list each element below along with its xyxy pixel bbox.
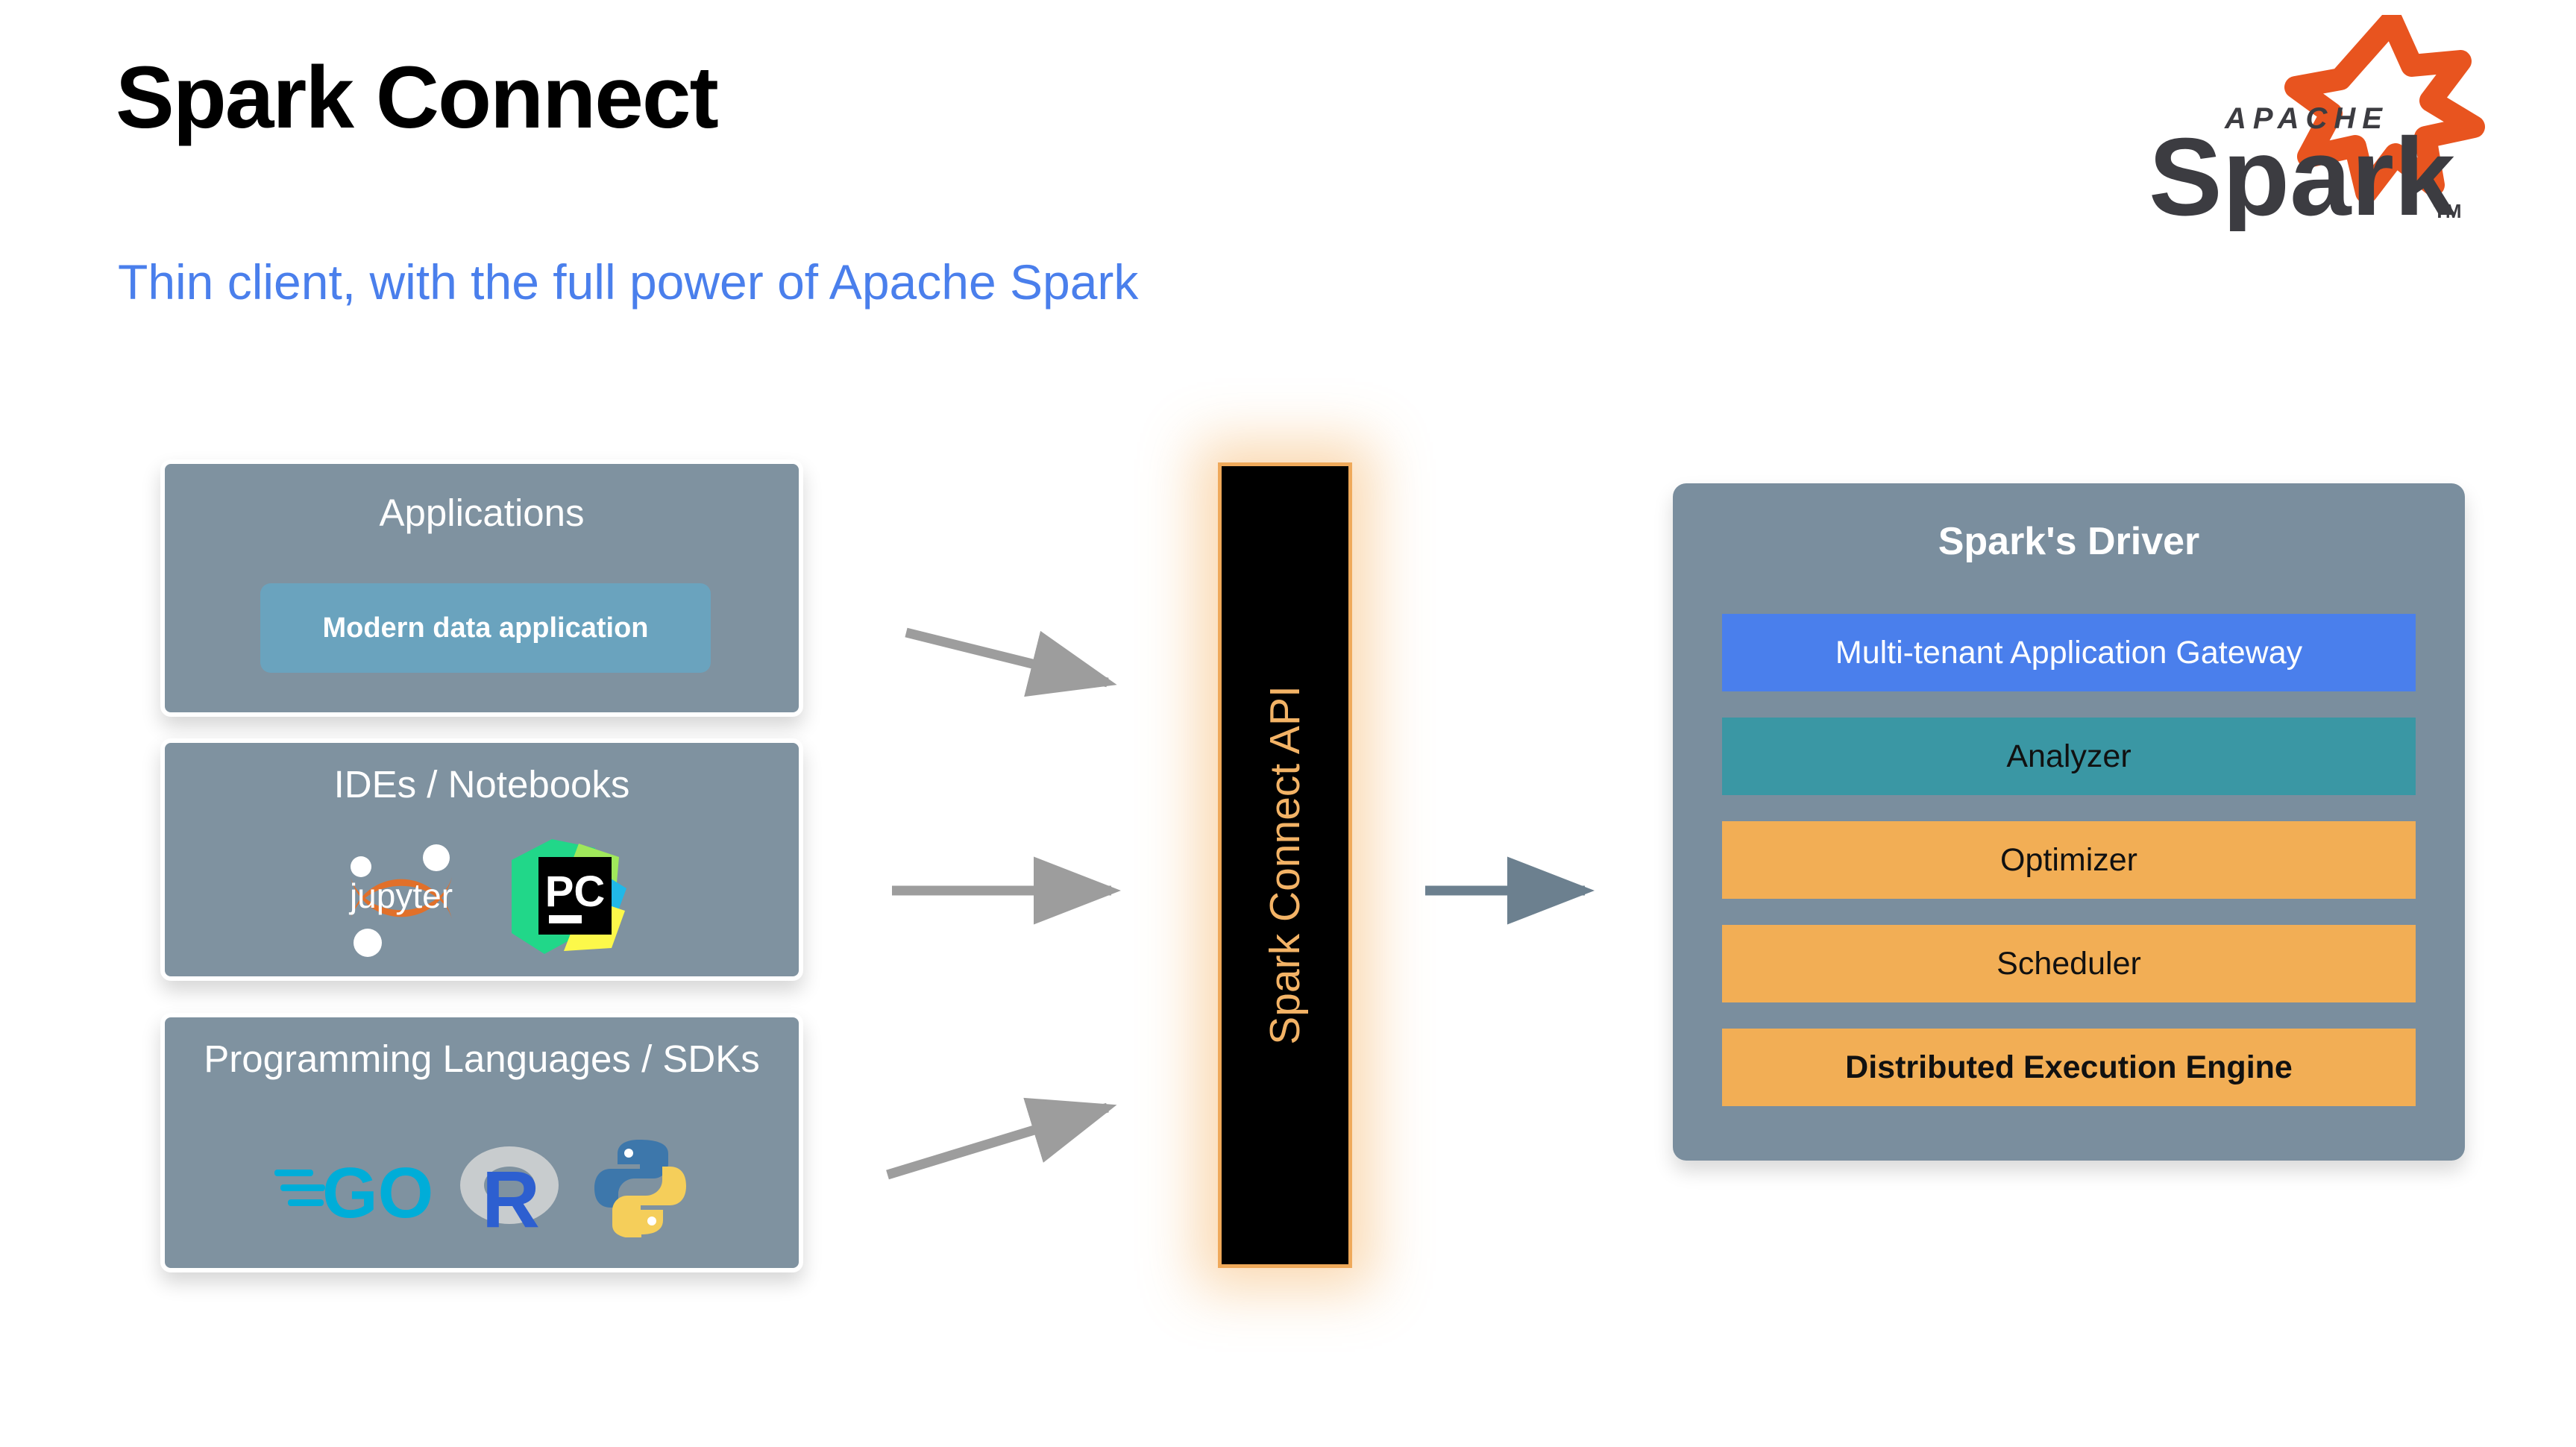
driver-row-scheduler[interactable]: Scheduler (1722, 925, 2416, 1002)
spark-connect-api-bar[interactable]: Spark Connect API (1218, 462, 1352, 1268)
card-ides-notebooks[interactable]: IDEs / Notebooks jupyter (160, 738, 803, 981)
driver-row-distributed-execution-engine[interactable]: Distributed Execution Engine (1722, 1029, 2416, 1106)
driver-row-optimizer[interactable]: Optimizer (1722, 821, 2416, 899)
python-logo (590, 1137, 691, 1241)
go-wordmark-text: GO (322, 1153, 433, 1232)
go-logo: GO (273, 1143, 433, 1236)
r-wordmark-text: R (482, 1154, 540, 1236)
spark-driver-panel[interactable]: Spark's Driver Multi-tenant Application … (1673, 483, 2465, 1161)
logo-wordmark-text: Spark (2149, 116, 2456, 231)
arrow-languages-to-api (888, 1108, 1108, 1175)
logo-trademark-text: TM (2434, 200, 2462, 222)
card-ides-notebooks-title: IDEs / Notebooks (165, 762, 799, 807)
language-logo-row: GO R (165, 1137, 799, 1241)
pycharm-wordmark-text: PC (544, 867, 605, 916)
driver-row-analyzer[interactable]: Analyzer (1722, 718, 2416, 795)
page-title: Spark Connect (116, 52, 717, 145)
apache-spark-logo: APACHE Spark TM (2129, 15, 2502, 231)
card-programming-languages[interactable]: Programming Languages / SDKs GO R (160, 1013, 803, 1272)
pycharm-logo: PC (507, 835, 630, 965)
slide-canvas: Spark Connect Thin client, with the full… (0, 0, 2576, 1447)
r-logo: R (456, 1139, 568, 1240)
card-applications[interactable]: Applications Modern data application (160, 459, 803, 717)
spark-driver-title: Spark's Driver (1673, 519, 2465, 564)
modern-data-application-pill[interactable]: Modern data application (260, 583, 711, 673)
card-programming-languages-title: Programming Languages / SDKs (165, 1037, 799, 1082)
spark-connect-api-label: Spark Connect API (1260, 685, 1310, 1045)
driver-row-multi-tenant-application-gateway[interactable]: Multi-tenant Application Gateway (1722, 614, 2416, 691)
jupyter-wordmark-text: jupyter (348, 876, 452, 915)
arrow-applications-to-api (906, 633, 1108, 682)
page-subtitle: Thin client, with the full power of Apac… (118, 254, 1138, 310)
jupyter-logo: jupyter (334, 831, 468, 969)
ide-logo-row: jupyter PC (165, 831, 799, 969)
card-applications-title: Applications (165, 491, 799, 536)
